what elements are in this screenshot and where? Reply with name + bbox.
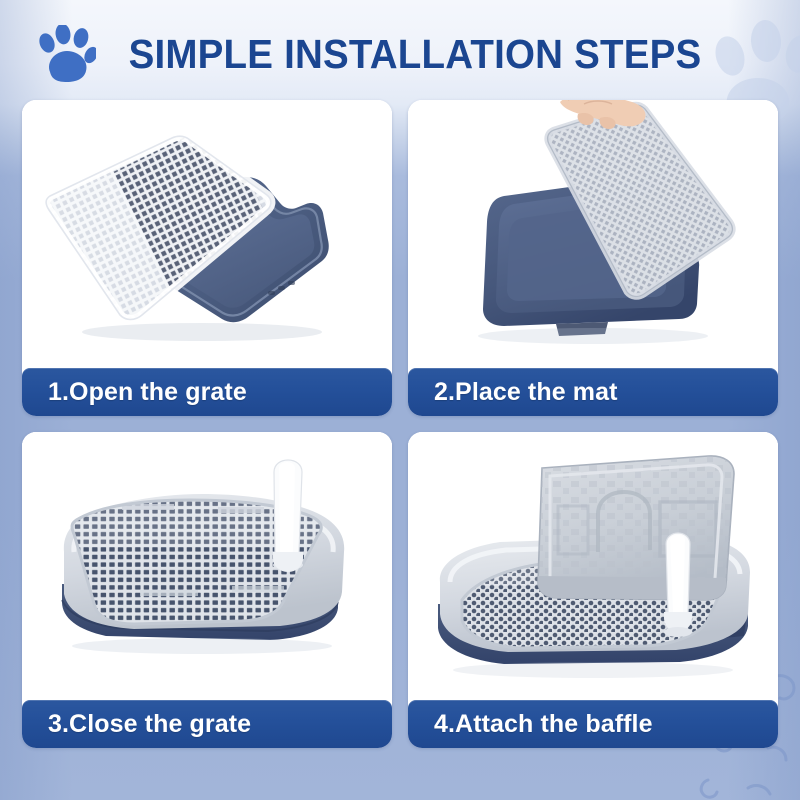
step-1-caption-bar: 1.Open the grate [22, 368, 392, 416]
step-card-2[interactable]: 2.Place the mat [408, 100, 778, 416]
step-3-caption-bar: 3.Close the grate [22, 700, 392, 748]
paw-print-icon [36, 25, 96, 83]
page-background: SIMPLE INSTALLATION STEPS [0, 0, 800, 800]
steps-grid: 1.Open the grate [22, 100, 778, 780]
step-2-caption-bar: 2.Place the mat [408, 368, 778, 416]
step-3-caption-text: 3.Close the grate [22, 710, 251, 739]
step-4-photo-attach-baffle [408, 432, 778, 700]
step-2-caption-text: 2.Place the mat [408, 378, 618, 407]
step-card-1[interactable]: 1.Open the grate [22, 100, 392, 416]
step-1-caption-text: 1.Open the grate [22, 378, 247, 407]
step-4-caption-text: 4.Attach the baffle [408, 710, 653, 739]
step-card-4[interactable]: 4.Attach the baffle [408, 432, 778, 748]
page-header: SIMPLE INSTALLATION STEPS [0, 0, 800, 100]
step-4-caption-bar: 4.Attach the baffle [408, 700, 778, 748]
step-3-photo-close-grate [22, 432, 392, 700]
step-2-photo-place-mat [408, 100, 778, 368]
step-1-photo-open-grate [22, 100, 392, 368]
page-title: SIMPLE INSTALLATION STEPS [128, 26, 701, 82]
step-card-3[interactable]: 3.Close the grate [22, 432, 392, 748]
